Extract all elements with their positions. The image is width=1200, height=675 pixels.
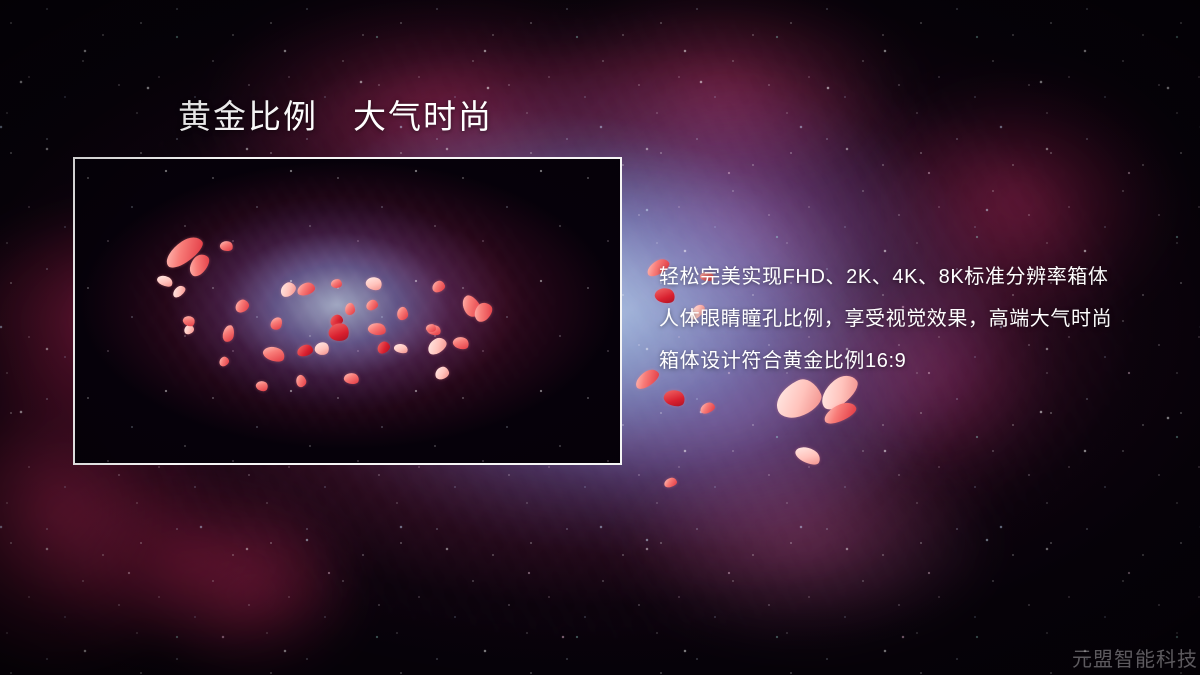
body-text-block: 轻松完美实现FHD、2K、4K、8K标准分辨率箱体 人体眼睛瞳孔比例，享受视觉效… bbox=[659, 256, 1179, 382]
page-title: 黄金比例 大气时尚 bbox=[178, 100, 493, 133]
presentation-slide: 黄金比例 大气时尚 轻松完美实现FHD、2K、4K、8K标准分辨率箱体 人体眼睛… bbox=[0, 0, 1200, 675]
framed-image bbox=[73, 157, 622, 465]
body-line: 轻松完美实现FHD、2K、4K、8K标准分辨率箱体 bbox=[659, 256, 1179, 298]
body-line: 箱体设计符合黄金比例16:9 bbox=[659, 340, 1179, 382]
watermark: 元盟智能科技 bbox=[1072, 648, 1198, 672]
framed-image-content bbox=[75, 159, 620, 463]
body-line: 人体眼睛瞳孔比例，享受视觉效果，高端大气时尚 bbox=[659, 298, 1179, 340]
